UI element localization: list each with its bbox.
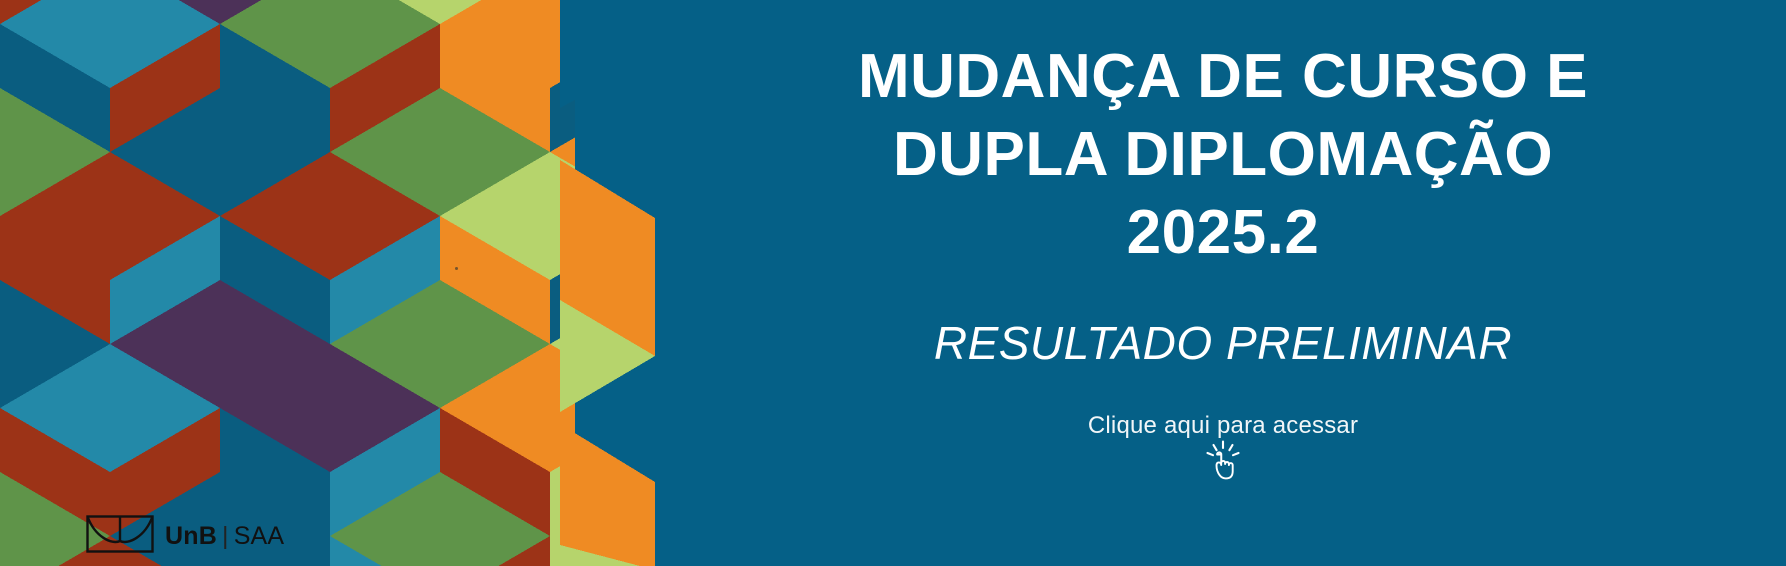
unb-logo-mark-icon	[86, 515, 154, 558]
unb-saa-wordmark: UnB|SAA	[165, 524, 284, 549]
logo-unb-text: UnB	[165, 522, 217, 550]
call-to-action[interactable]: Clique aqui para acessar	[1088, 414, 1358, 489]
page-title-line-3: 2025.2	[1127, 194, 1320, 272]
logo-separator: |	[217, 522, 234, 550]
pointing-hand-click-cursor-icon[interactable]	[1202, 440, 1244, 489]
stray-dot-artifact	[455, 267, 458, 270]
unb-saa-logo: UnB|SAA	[86, 515, 284, 558]
cta-label[interactable]: Clique aqui para acessar	[1088, 414, 1358, 438]
isometric-cube-pattern	[0, 0, 660, 566]
subtitle-resultado-preliminar: RESULTADO PRELIMINAR	[934, 320, 1512, 366]
logo-saa-text: SAA	[234, 522, 285, 550]
page-title-line-1: MUDANÇA DE CURSO E	[858, 38, 1588, 116]
page-title-line-2: DUPLA DIPLOMAÇÃO	[893, 116, 1553, 194]
pattern-svg	[0, 0, 660, 566]
banner-mudanca-de-curso: UnB|SAA MUDANÇA DE CURSO E DUPLA DIPLOMA…	[0, 0, 1786, 566]
banner-text-column: MUDANÇA DE CURSO E DUPLA DIPLOMAÇÃO 2025…	[660, 0, 1786, 566]
